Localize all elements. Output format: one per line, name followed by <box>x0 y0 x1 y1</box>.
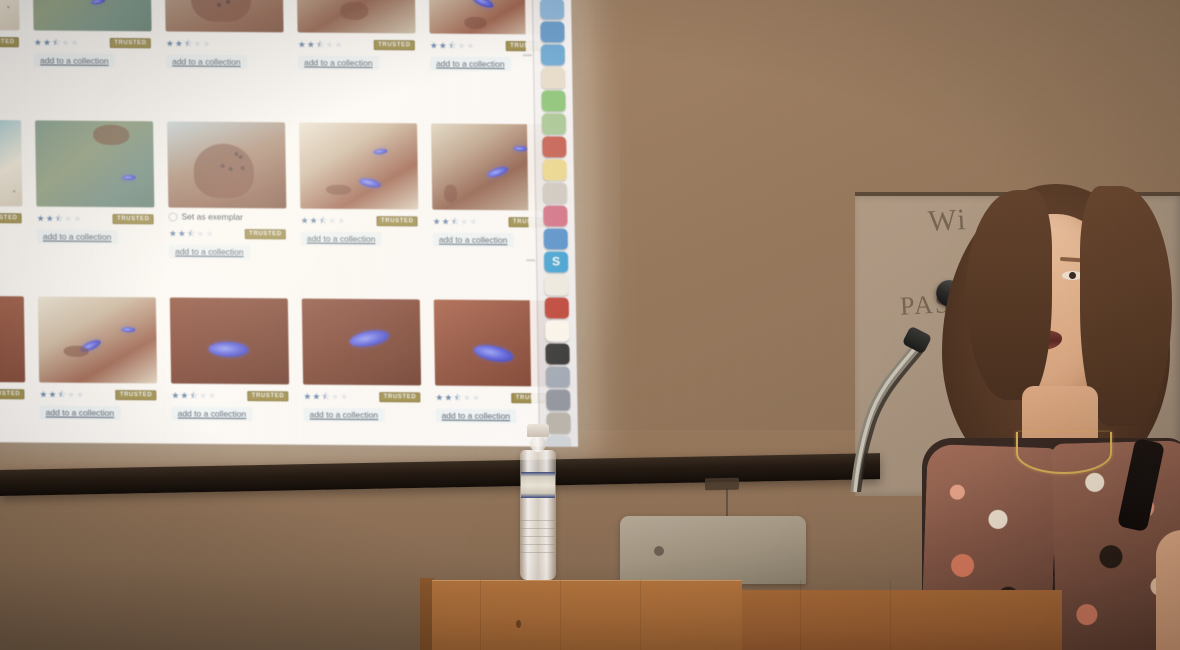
gold-necklace <box>1016 432 1112 474</box>
result-thumbnail[interactable] <box>32 0 151 31</box>
star-rating[interactable]: ★★⯪★★ <box>303 392 348 401</box>
projection-screen: Video ★★⯪★★ TRUSTED add to a collection … <box>0 0 578 447</box>
star-half[interactable]: ⯪ <box>453 393 462 402</box>
star-half[interactable]: ⯪ <box>52 38 61 47</box>
star-rating[interactable]: ★★⯪★★ <box>39 390 84 399</box>
bottle-ridge <box>521 528 555 529</box>
star-empty[interactable]: ★ <box>460 217 468 226</box>
add-to-collection-link[interactable]: add to a collection <box>40 405 121 420</box>
reminders-icon[interactable] <box>543 182 567 203</box>
star-empty[interactable]: ★ <box>205 229 213 238</box>
card-meta-row: ★★⯪★★ TRUSTED <box>34 36 151 49</box>
star-empty[interactable]: ★ <box>67 390 75 399</box>
result-card[interactable]: ★★⯪★★ TRUSTED add to a collection <box>289 0 424 117</box>
star-half[interactable]: ⯪ <box>184 39 193 48</box>
star-empty[interactable]: ★ <box>469 217 477 226</box>
result-thumbnail[interactable] <box>0 119 22 206</box>
star-filled[interactable]: ★ <box>166 39 174 48</box>
bottle-cap <box>527 424 549 437</box>
star-filled[interactable]: ★ <box>175 39 183 48</box>
trusted-badge: TRUSTED <box>245 229 286 239</box>
add-to-collection-link[interactable]: add to a collection <box>34 53 115 68</box>
star-rating[interactable]: ★★⯪★★ <box>300 216 345 225</box>
app-page: Video ★★⯪★★ TRUSTED add to a collection … <box>0 0 540 446</box>
xcode-icon[interactable] <box>546 366 570 387</box>
appstore-icon[interactable] <box>544 228 568 249</box>
star-filled[interactable]: ★ <box>46 214 54 223</box>
photos-icon[interactable] <box>541 67 565 88</box>
trusted-badge: TRUSTED <box>0 389 24 399</box>
star-half[interactable]: ⯪ <box>451 217 460 226</box>
calendar-icon[interactable] <box>542 136 566 157</box>
star-filled[interactable]: ★ <box>37 214 45 223</box>
star-filled[interactable]: ★ <box>439 41 447 50</box>
star-filled[interactable]: ★ <box>34 38 42 47</box>
star-rating[interactable]: ★★⯪★★ <box>169 229 214 238</box>
add-to-collection-link[interactable]: add to a collection <box>303 408 384 423</box>
card-meta-row: ★★⯪★★ TRUSTED <box>0 387 24 400</box>
card-meta-row: ★★⯪★★ TRUSTED <box>300 214 417 227</box>
bottle-ridge <box>521 544 555 545</box>
star-filled[interactable]: ★ <box>312 392 320 401</box>
add-to-collection-link[interactable]: add to a collection <box>301 232 382 247</box>
star-empty[interactable]: ★ <box>199 391 207 400</box>
trusted-badge: TRUSTED <box>0 37 19 47</box>
card-meta-row: ★★⯪★★ TRUSTED <box>0 35 19 48</box>
star-filled[interactable]: ★ <box>430 41 438 50</box>
photo-scene: Wi c PASS Video ★★⯪★★ TRUSTED add to a c… <box>0 0 1180 650</box>
star-filled[interactable]: ★ <box>300 216 308 225</box>
star-half[interactable]: ⯪ <box>319 216 328 225</box>
star-rating[interactable]: ★★⯪★★ <box>171 391 216 400</box>
star-filled[interactable]: ★ <box>169 229 177 238</box>
card-meta-row: ★★⯪★★ TRUSTED <box>303 391 420 404</box>
star-half[interactable]: ⯪ <box>448 41 457 50</box>
podium-grain <box>640 580 641 650</box>
result-thumbnail[interactable] <box>38 296 157 383</box>
acrobat-icon[interactable] <box>545 297 569 318</box>
trusted-badge: TRUSTED <box>374 40 415 50</box>
star-filled[interactable]: ★ <box>310 216 318 225</box>
wooden-podium <box>420 572 1060 650</box>
result-thumbnail[interactable] <box>302 299 421 386</box>
card-meta-row: ★★⯪★★ <box>166 37 283 50</box>
podium-knot <box>516 620 521 628</box>
star-filled[interactable]: ★ <box>432 217 440 226</box>
star-rating[interactable]: ★★⯪★★ <box>37 214 82 223</box>
result-card[interactable]: ★★⯪★★ TRUSTED add to a collection <box>292 116 427 293</box>
card-meta-row: ★★⯪★★ TRUSTED <box>298 38 415 51</box>
scroll-tick <box>526 259 535 261</box>
pupil-right <box>1069 272 1076 279</box>
screen-rail-clip <box>705 478 739 491</box>
add-to-collection-link[interactable]: add to a collection <box>433 233 514 248</box>
star-filled[interactable]: ★ <box>442 217 450 226</box>
star-empty[interactable]: ★ <box>61 38 69 47</box>
card-meta-row: ★★⯪★★ TRUSTED <box>39 388 156 401</box>
result-thumbnail[interactable] <box>164 0 283 32</box>
trusted-badge: TRUSTED <box>110 38 151 48</box>
star-filled[interactable]: ★ <box>178 229 186 238</box>
star-filled[interactable]: ★ <box>48 390 56 399</box>
result-thumbnail[interactable] <box>0 0 20 30</box>
result-card[interactable]: ★★⯪★★ TRUSTED add to a collection <box>0 289 33 446</box>
star-empty[interactable]: ★ <box>64 214 72 223</box>
podium-grain <box>560 580 561 650</box>
bottle-neck <box>530 436 546 452</box>
star-filled[interactable]: ★ <box>171 391 179 400</box>
star-empty[interactable]: ★ <box>208 391 216 400</box>
image-result-grid: ★★⯪★★ TRUSTED add to a collection ★★⯪★★ … <box>0 0 561 447</box>
star-empty[interactable]: ★ <box>71 38 79 47</box>
star-empty[interactable]: ★ <box>325 40 333 49</box>
bottle-body <box>520 450 556 580</box>
star-empty[interactable]: ★ <box>331 392 339 401</box>
add-to-collection-link[interactable]: add to a collection <box>435 409 516 424</box>
star-half[interactable]: ⯪ <box>189 391 198 400</box>
trusted-badge: TRUSTED <box>380 392 421 402</box>
preview-icon[interactable] <box>544 274 568 295</box>
result-thumbnail[interactable] <box>167 121 286 208</box>
star-filled[interactable]: ★ <box>444 393 452 402</box>
add-to-collection-link[interactable]: add to a collection <box>37 229 118 244</box>
mail-icon[interactable] <box>540 21 564 42</box>
maps-icon[interactable] <box>542 113 566 134</box>
star-empty[interactable]: ★ <box>337 216 345 225</box>
star-filled[interactable]: ★ <box>298 40 306 49</box>
laptop-logo <box>654 546 664 556</box>
card-meta-row: ★★⯪★★ TRUSTED <box>0 211 22 224</box>
star-rating[interactable]: ★★⯪★★ <box>430 41 475 50</box>
trusted-badge: TRUSTED <box>248 391 289 401</box>
add-to-collection-link[interactable]: add to a collection <box>298 55 379 70</box>
result-thumbnail[interactable] <box>0 295 25 382</box>
radio-icon[interactable] <box>168 212 177 221</box>
star-empty[interactable]: ★ <box>334 40 342 49</box>
star-empty[interactable]: ★ <box>340 392 348 401</box>
podium-grain <box>480 580 481 650</box>
bottle-label <box>521 472 555 498</box>
star-rating[interactable]: ★★⯪★★ <box>432 217 477 226</box>
card-meta-row: ★★⯪★★ TRUSTED <box>171 390 288 403</box>
card-meta-row: ★★⯪★★ TRUSTED <box>36 212 153 225</box>
trusted-badge: TRUSTED <box>0 213 22 223</box>
result-card[interactable]: ★★⯪★★ TRUSTED add to a collection <box>0 113 31 290</box>
notes-icon[interactable] <box>543 159 567 180</box>
result-card[interactable]: ★★⯪★★ TRUSTED add to a collection <box>25 0 160 115</box>
star-empty[interactable]: ★ <box>196 229 204 238</box>
result-thumbnail[interactable] <box>299 122 418 209</box>
bottle-ridge <box>521 552 555 553</box>
hair-front-left <box>966 190 1052 400</box>
trusted-badge: TRUSTED <box>377 216 418 226</box>
music-icon[interactable] <box>543 205 567 226</box>
imovie-icon[interactable] <box>546 389 570 410</box>
star-filled[interactable]: ★ <box>43 38 51 47</box>
result-card[interactable]: Set as exemplar ★★⯪★★ TRUSTED add to a c… <box>160 115 295 292</box>
laptop-cable <box>726 488 728 518</box>
star-empty[interactable]: ★ <box>193 39 201 48</box>
set-as-exemplar-option[interactable]: Set as exemplar <box>168 211 285 222</box>
star-filled[interactable]: ★ <box>180 391 188 400</box>
result-card[interactable]: ★★⯪★★ TRUSTED add to a collection <box>295 292 430 446</box>
star-rating[interactable]: ★★⯪★★ <box>298 40 343 49</box>
result-card[interactable]: ★★⯪★★ TRUSTED add to a collection <box>163 291 298 446</box>
set-as-exemplar-label: Set as exemplar <box>181 212 243 222</box>
star-empty[interactable]: ★ <box>76 390 84 399</box>
result-card[interactable]: ★★⯪★★ add to a collection <box>157 0 292 116</box>
finder-icon[interactable] <box>540 0 564 20</box>
star-rating[interactable]: ★★⯪★★ <box>166 39 211 48</box>
add-to-collection-link[interactable]: add to a collection <box>169 244 250 259</box>
star-half[interactable]: ⯪ <box>55 214 64 223</box>
star-half[interactable]: ⯪ <box>57 390 66 399</box>
star-empty[interactable]: ★ <box>466 41 474 50</box>
add-to-collection-link[interactable]: add to a collection <box>430 56 511 71</box>
scroll-tick <box>523 54 532 56</box>
star-half[interactable]: ⯪ <box>316 40 325 49</box>
star-empty[interactable]: ★ <box>202 39 210 48</box>
result-thumbnail[interactable] <box>170 297 289 384</box>
bottle-ridge <box>521 536 555 537</box>
trusted-badge: TRUSTED <box>113 214 154 224</box>
star-rating[interactable]: ★★⯪★★ <box>34 38 79 47</box>
star-filled[interactable]: ★ <box>307 40 315 49</box>
podium-grain <box>890 580 891 650</box>
star-half[interactable]: ⯪ <box>321 392 330 401</box>
star-half[interactable]: ⯪ <box>187 229 196 238</box>
podium-face-left <box>432 580 742 650</box>
star-filled[interactable]: ★ <box>303 392 311 401</box>
messages-icon[interactable] <box>541 90 565 111</box>
safari-icon[interactable] <box>541 44 565 65</box>
arm-right <box>1156 530 1180 650</box>
result-card[interactable]: ★★⯪★★ TRUSTED add to a collection <box>28 114 163 291</box>
star-filled[interactable]: ★ <box>435 393 443 402</box>
result-card[interactable]: ★★⯪★★ TRUSTED add to a collection <box>31 290 166 446</box>
podium-grain <box>800 580 801 650</box>
card-meta-row: ★★⯪★★ TRUSTED <box>169 227 286 240</box>
add-to-collection-link[interactable]: add to a collection <box>166 54 247 69</box>
result-card[interactable]: ★★⯪★★ TRUSTED add to a collection <box>0 0 28 114</box>
podium-face-right <box>742 590 1062 650</box>
skype-icon[interactable]: S <box>544 251 568 272</box>
star-filled[interactable]: ★ <box>39 390 47 399</box>
star-empty[interactable]: ★ <box>463 393 471 402</box>
add-to-collection-link[interactable]: add to a collection <box>171 407 252 422</box>
star-empty[interactable]: ★ <box>457 41 465 50</box>
trusted-badge: TRUSTED <box>116 390 157 400</box>
macos-dock[interactable]: S <box>532 0 578 447</box>
bottle-ridge <box>521 520 555 521</box>
star-empty[interactable]: ★ <box>472 393 480 402</box>
projected-browser-window: Video ★★⯪★★ TRUSTED add to a collection … <box>0 0 578 447</box>
star-empty[interactable]: ★ <box>328 216 336 225</box>
result-thumbnail[interactable] <box>296 0 415 33</box>
result-thumbnail[interactable] <box>35 120 154 207</box>
terminal-icon[interactable] <box>545 343 569 364</box>
star-empty[interactable]: ★ <box>73 214 81 223</box>
water-bottle <box>516 424 560 584</box>
star-rating[interactable]: ★★⯪★★ <box>435 393 480 402</box>
textedit-icon[interactable] <box>545 320 569 341</box>
